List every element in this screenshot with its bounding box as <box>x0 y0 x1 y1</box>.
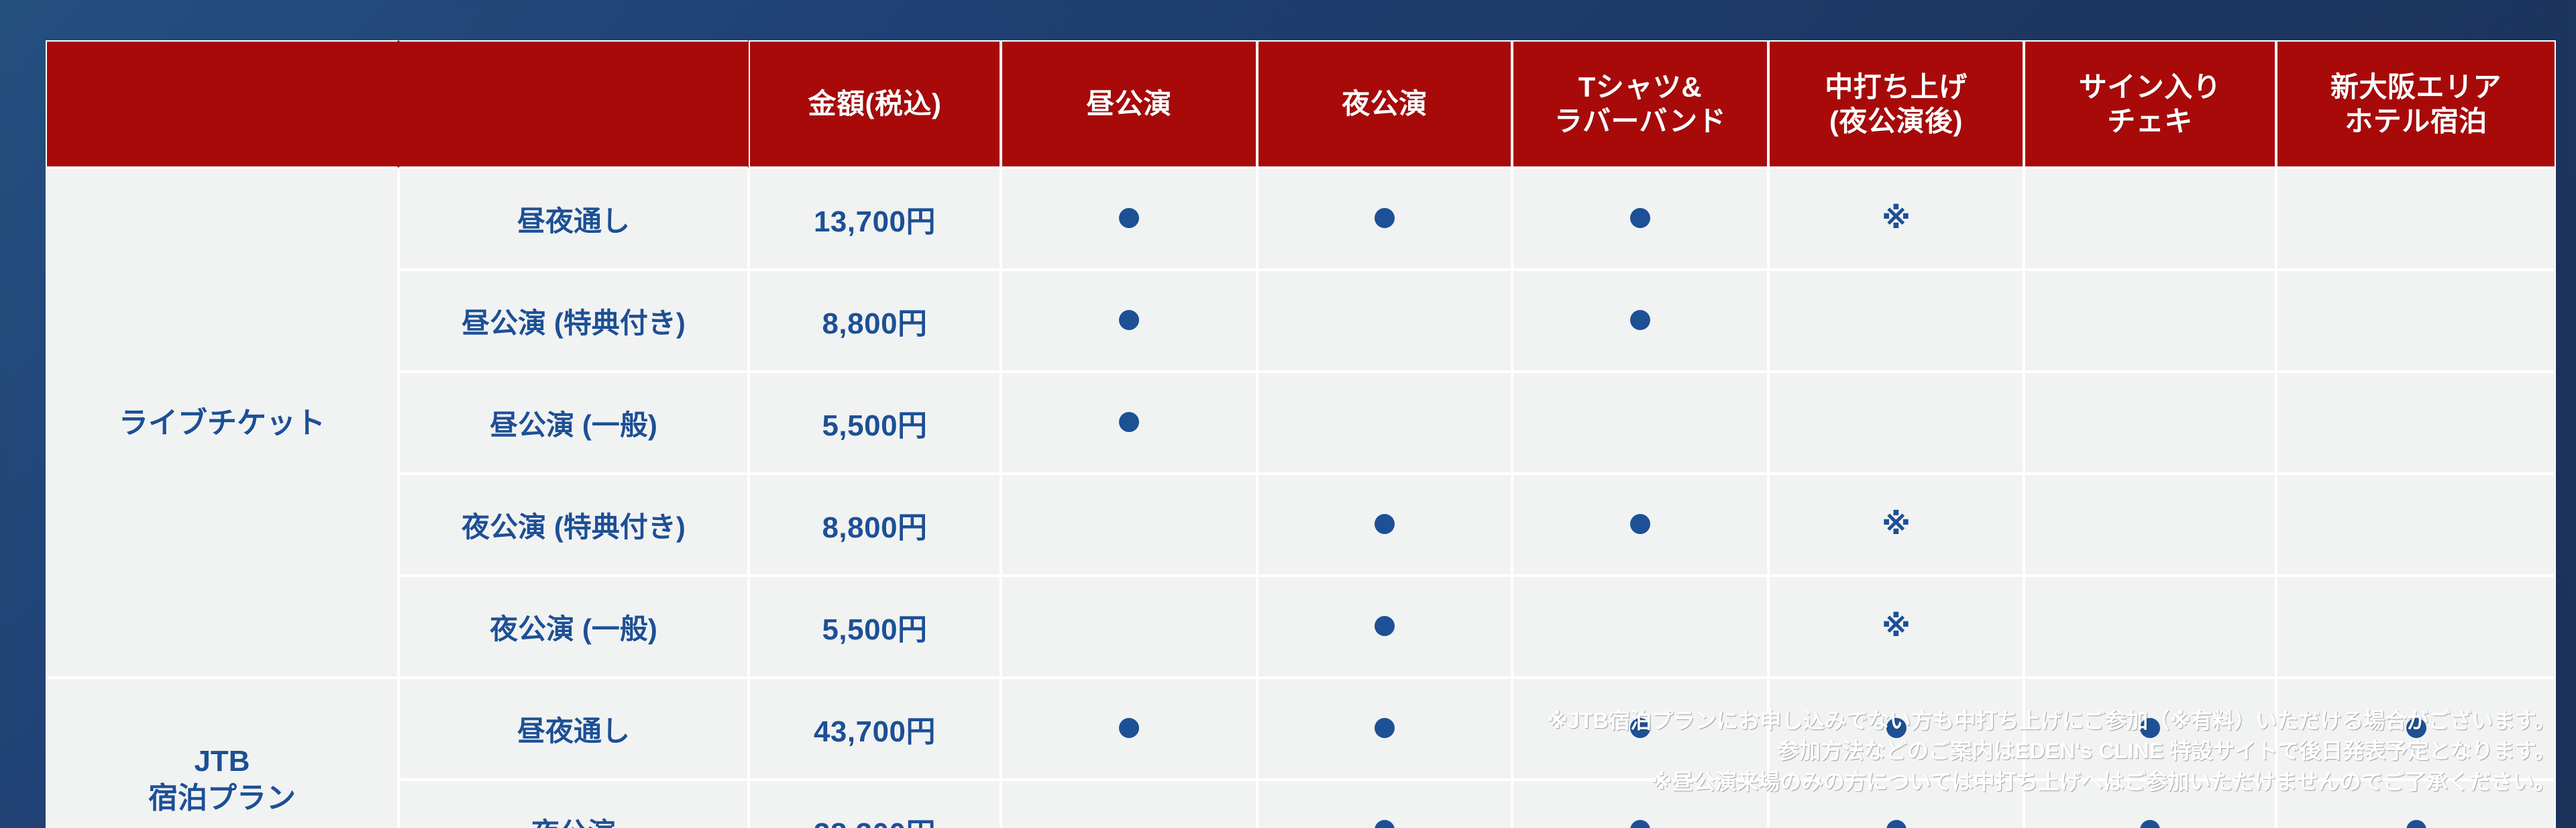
price-cell: 13,700円 <box>749 168 1001 270</box>
plan-label-cell: 昼夜通し <box>398 678 749 780</box>
included-dot-icon <box>1375 208 1395 228</box>
mark-cell-afterparty <box>1768 270 2024 372</box>
mark-cell-evening <box>1257 168 1512 270</box>
table-row: 夜公演 (一般)5,500円※ <box>46 576 2556 678</box>
header-tshirt-line2: ラバーバンド <box>1554 105 1726 137</box>
table-header: 金額(税込) 昼公演 夜公演 Tシャツ& ラバーバンド 中打ち上げ (夜公演後)… <box>46 40 2556 168</box>
plan-label-cell: 夜公演 (特典付き) <box>398 474 749 576</box>
group-jtb-plan: JTB宿泊プラン <box>46 678 398 828</box>
kome-note-icon: ※ <box>1882 204 1911 234</box>
mark-cell-evening <box>1257 270 1512 372</box>
price-cell: 5,500円 <box>749 372 1001 474</box>
included-dot-icon <box>1119 718 1139 738</box>
header-hotel-line1: 新大阪エリア <box>2330 71 2502 103</box>
included-dot-icon <box>1630 310 1650 330</box>
mark-cell-hotel <box>2276 168 2556 270</box>
mark-cell-hotel <box>2276 270 2556 372</box>
included-dot-icon <box>2406 820 2426 828</box>
mark-cell-cheki <box>2024 576 2276 678</box>
header-matinee: 昼公演 <box>1001 40 1257 168</box>
plan-label-cell: 昼公演 (一般) <box>398 372 749 474</box>
price-cell: 5,500円 <box>749 576 1001 678</box>
footnote-line-1: ※JTB宿泊プランにお申し込みでない方も中打ち上げにご参加（※有料）いただける場… <box>1147 706 2556 736</box>
mark-cell-tshirt <box>1512 168 1768 270</box>
table-row: ライブチケット昼夜通し13,700円※ <box>46 168 2556 270</box>
mark-cell-hotel <box>2276 372 2556 474</box>
header-tshirt-line1: Tシャツ& <box>1578 71 1703 103</box>
header-afterparty-line1: 中打ち上げ <box>1825 71 1968 103</box>
plan-label-cell: 夜公演 (一般) <box>398 576 749 678</box>
mark-cell-evening <box>1257 474 1512 576</box>
price-cell: 8,800円 <box>749 270 1001 372</box>
mark-cell-tshirt <box>1512 576 1768 678</box>
price-cell: 43,700円 <box>749 678 1001 780</box>
group-live-ticket: ライブチケット <box>46 168 398 678</box>
price-cell: 8,800円 <box>749 474 1001 576</box>
table-row: 昼公演 (一般)5,500円 <box>46 372 2556 474</box>
mark-cell-cheki <box>2024 270 2276 372</box>
mark-cell-hotel <box>2276 474 2556 576</box>
kome-note-icon: ※ <box>1882 612 1911 641</box>
header-cheki-line2: チェキ <box>2107 105 2193 137</box>
mark-cell-tshirt <box>1512 270 1768 372</box>
group-jtb-plan-line2: 宿泊プラン <box>148 782 296 815</box>
mark-cell-cheki <box>2024 474 2276 576</box>
included-dot-icon <box>1630 514 1650 534</box>
mark-cell-tshirt <box>1512 372 1768 474</box>
mark-cell-evening <box>1257 576 1512 678</box>
footnote-line-3: ※昼公演来場のみの方については中打ち上げへはご参加いただけませんのでご了承くださ… <box>1147 767 2556 797</box>
header-afterparty-line2: (夜公演後) <box>1829 105 1963 137</box>
included-dot-icon <box>1119 208 1139 228</box>
included-dot-icon <box>1119 310 1139 330</box>
group-jtb-plan-line1: JTB <box>194 745 250 778</box>
header-afterparty: 中打ち上げ (夜公演後) <box>1768 40 2024 168</box>
mark-cell-matinee <box>1001 372 1257 474</box>
included-dot-icon <box>1630 820 1650 828</box>
page-root: 金額(税込) 昼公演 夜公演 Tシャツ& ラバーバンド 中打ち上げ (夜公演後)… <box>0 0 2576 828</box>
header-tshirt-rubberband: Tシャツ& ラバーバンド <box>1512 40 1768 168</box>
footnote-line-2: 参加方法などのご案内はEDEN's CLINE 特設サイトで後日発表予定となりま… <box>1147 736 2556 766</box>
mark-cell-cheki <box>2024 372 2276 474</box>
mark-cell-afterparty: ※ <box>1768 576 2024 678</box>
included-dot-icon <box>2140 820 2160 828</box>
included-dot-icon <box>1119 412 1139 432</box>
mark-cell-afterparty: ※ <box>1768 168 2024 270</box>
mark-cell-matinee <box>1001 474 1257 576</box>
kome-note-icon: ※ <box>1882 510 1911 539</box>
mark-cell-cheki <box>2024 168 2276 270</box>
header-row: 金額(税込) 昼公演 夜公演 Tシャツ& ラバーバンド 中打ち上げ (夜公演後)… <box>46 40 2556 168</box>
price-cell: 38,300円 <box>749 780 1001 828</box>
mark-cell-hotel <box>2276 576 2556 678</box>
plan-label-cell: 昼公演 (特典付き) <box>398 270 749 372</box>
included-dot-icon <box>1630 208 1650 228</box>
plan-label-cell: 昼夜通し <box>398 168 749 270</box>
mark-cell-matinee <box>1001 270 1257 372</box>
mark-cell-matinee <box>1001 576 1257 678</box>
included-dot-icon <box>1375 820 1395 828</box>
footnotes-block: ※JTB宿泊プランにお申し込みでない方も中打ち上げにご参加（※有料）いただける場… <box>1147 706 2556 797</box>
mark-cell-matinee <box>1001 168 1257 270</box>
mark-cell-afterparty: ※ <box>1768 474 2024 576</box>
header-plan-blank <box>398 40 749 168</box>
mark-cell-afterparty <box>1768 372 2024 474</box>
mark-cell-evening <box>1257 372 1512 474</box>
mark-cell-tshirt <box>1512 474 1768 576</box>
header-hotel-line2: ホテル宿泊 <box>2345 105 2487 137</box>
header-cheki-line1: サイン入り <box>2079 71 2222 103</box>
header-group-blank <box>46 40 398 168</box>
header-price: 金額(税込) <box>749 40 1001 168</box>
included-dot-icon <box>1886 820 1907 828</box>
included-dot-icon <box>1375 514 1395 534</box>
header-signed-cheki: サイン入り チェキ <box>2024 40 2276 168</box>
plan-label-cell: 夜公演 <box>398 780 749 828</box>
header-evening: 夜公演 <box>1257 40 1512 168</box>
header-hotel-stay: 新大阪エリア ホテル宿泊 <box>2276 40 2556 168</box>
table-row: 昼公演 (特典付き)8,800円 <box>46 270 2556 372</box>
included-dot-icon <box>1375 616 1395 636</box>
table-row: 夜公演 (特典付き)8,800円※ <box>46 474 2556 576</box>
